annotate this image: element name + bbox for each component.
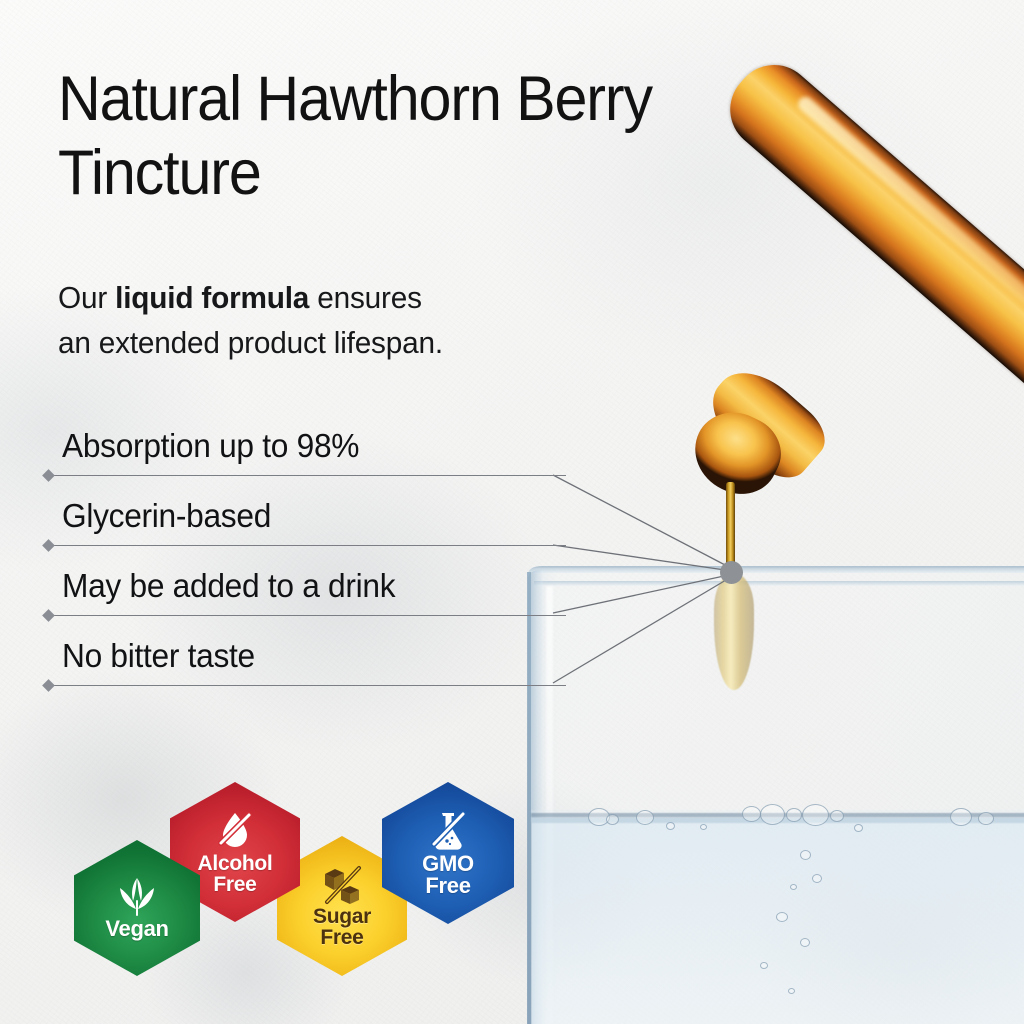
sugar-cubes-slash-icon (319, 864, 365, 906)
badge-label-line-2: Free (425, 873, 470, 898)
droplet-slash-icon (213, 809, 257, 853)
badge-label-line-1: Sugar (313, 905, 371, 928)
badge-label: Vegan (105, 918, 168, 940)
badge-label-line-2: Free (213, 873, 256, 896)
leaf-icon (113, 876, 161, 918)
product-infographic: Natural Hawthorn BerryTincture Our liqui… (0, 0, 1024, 1024)
badge-label-line-1: GMO (422, 851, 474, 876)
certification-badges: Sugar Free Alcohol Free (0, 0, 1024, 1024)
flask-slash-icon (425, 809, 471, 853)
badge-label: Alcohol Free (198, 853, 273, 896)
badge-label-line-1: Vegan (105, 916, 168, 941)
badge-label-line-1: Alcohol (198, 852, 273, 875)
badge-label: GMO Free (422, 853, 474, 898)
badge-label-line-2: Free (320, 926, 363, 949)
badge-label: Sugar Free (313, 906, 371, 949)
